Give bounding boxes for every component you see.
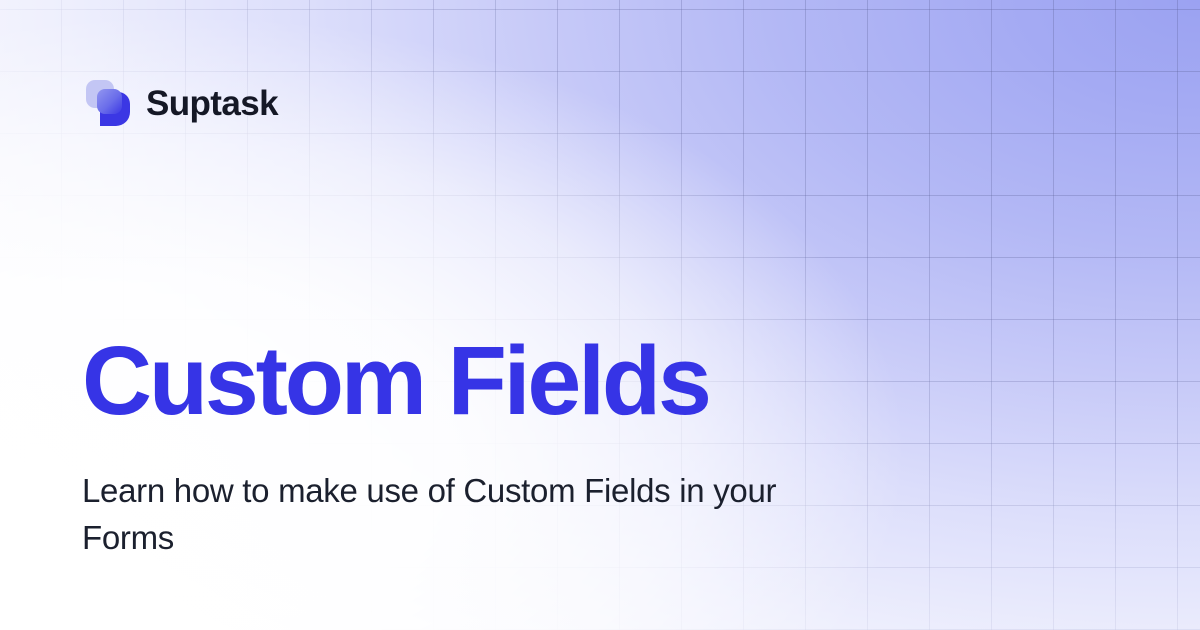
suptask-logo-svg <box>84 78 132 128</box>
suptask-logo-icon <box>84 78 132 128</box>
brand-name: Suptask <box>146 86 278 121</box>
page-subtitle: Learn how to make use of Custom Fields i… <box>82 468 842 562</box>
logo-gradient-square <box>97 89 122 114</box>
brand-lockup: Suptask <box>84 78 278 128</box>
social-card-canvas: Suptask Custom Fields Learn how to make … <box>0 0 1200 630</box>
page-title: Custom Fields <box>82 332 709 431</box>
card-content: Suptask Custom Fields Learn how to make … <box>0 0 1200 630</box>
